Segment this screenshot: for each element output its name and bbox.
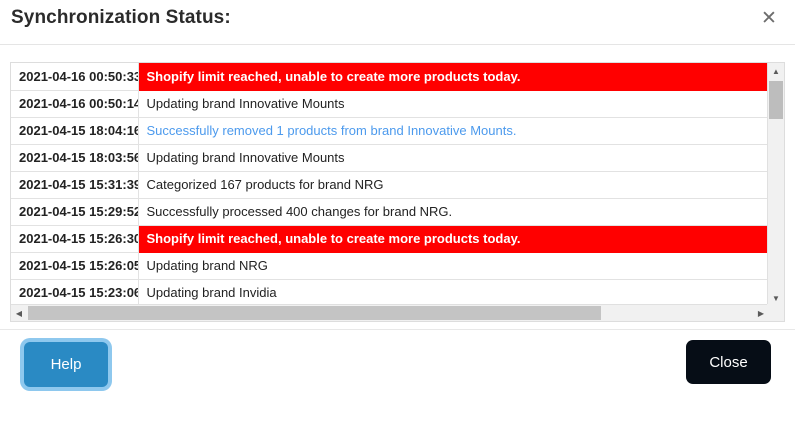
table-row[interactable]: 2021-04-15 15:23:06Updating brand Invidi… [11,279,769,306]
vertical-scrollbar-thumb[interactable] [769,81,783,119]
log-timestamp: 2021-04-15 15:31:39 [11,171,138,198]
log-message: Categorized 167 products for brand NRG [138,171,769,198]
table-row[interactable]: 2021-04-16 00:50:33Shopify limit reached… [11,63,769,90]
log-timestamp: 2021-04-15 15:29:52 [11,198,138,225]
log-timestamp: 2021-04-15 18:04:16 [11,117,138,144]
log-message: Updating brand NRG [138,252,769,279]
log-message: Shopify limit reached, unable to create … [138,63,769,90]
horizontal-scrollbar[interactable]: ◀ ▶ [11,304,785,321]
horizontal-scrollbar-thumb[interactable] [28,306,601,320]
sync-log-table: 2021-04-16 00:50:33Shopify limit reached… [11,63,769,306]
table-row[interactable]: 2021-04-15 15:26:05Updating brand NRG [11,252,769,279]
scroll-left-arrow-icon[interactable]: ◀ [11,305,27,321]
table-row[interactable]: 2021-04-15 15:31:39Categorized 167 produ… [11,171,769,198]
synchronization-status-dialog: Synchronization Status: ✕ 2021-04-16 00:… [0,0,795,430]
dialog-footer: Help Close [0,329,795,430]
log-timestamp: 2021-04-15 15:26:05 [11,252,138,279]
log-message: Updating brand Innovative Mounts [138,90,769,117]
close-button[interactable]: Close [686,340,771,384]
table-row[interactable]: 2021-04-16 00:50:14Updating brand Innova… [11,90,769,117]
vertical-scrollbar[interactable]: ▲ ▼ [767,63,784,306]
help-button[interactable]: Help [24,342,108,387]
log-message: Shopify limit reached, unable to create … [138,225,769,252]
page-title: Synchronization Status: [11,7,231,29]
log-timestamp: 2021-04-16 00:50:33 [11,63,138,90]
table-row[interactable]: 2021-04-15 18:04:16Successfully removed … [11,117,769,144]
log-scroll-viewport[interactable]: 2021-04-16 00:50:33Shopify limit reached… [11,63,769,306]
dialog-header: Synchronization Status: ✕ [0,0,795,45]
log-message[interactable]: Successfully removed 1 products from bra… [138,117,769,144]
log-panel: 2021-04-16 00:50:33Shopify limit reached… [10,62,785,322]
scrollbar-corner [767,304,784,321]
scroll-up-arrow-icon[interactable]: ▲ [768,63,784,79]
table-row[interactable]: 2021-04-15 15:26:30Shopify limit reached… [11,225,769,252]
log-timestamp: 2021-04-16 00:50:14 [11,90,138,117]
log-timestamp: 2021-04-15 18:03:56 [11,144,138,171]
log-table-body: 2021-04-16 00:50:33Shopify limit reached… [11,63,769,306]
close-icon[interactable]: ✕ [756,5,782,31]
log-timestamp: 2021-04-15 15:26:30 [11,225,138,252]
table-row[interactable]: 2021-04-15 18:03:56Updating brand Innova… [11,144,769,171]
table-row[interactable]: 2021-04-15 15:29:52Successfully processe… [11,198,769,225]
log-message: Successfully processed 400 changes for b… [138,198,769,225]
log-timestamp: 2021-04-15 15:23:06 [11,279,138,306]
log-message: Updating brand Innovative Mounts [138,144,769,171]
log-message: Updating brand Invidia [138,279,769,306]
